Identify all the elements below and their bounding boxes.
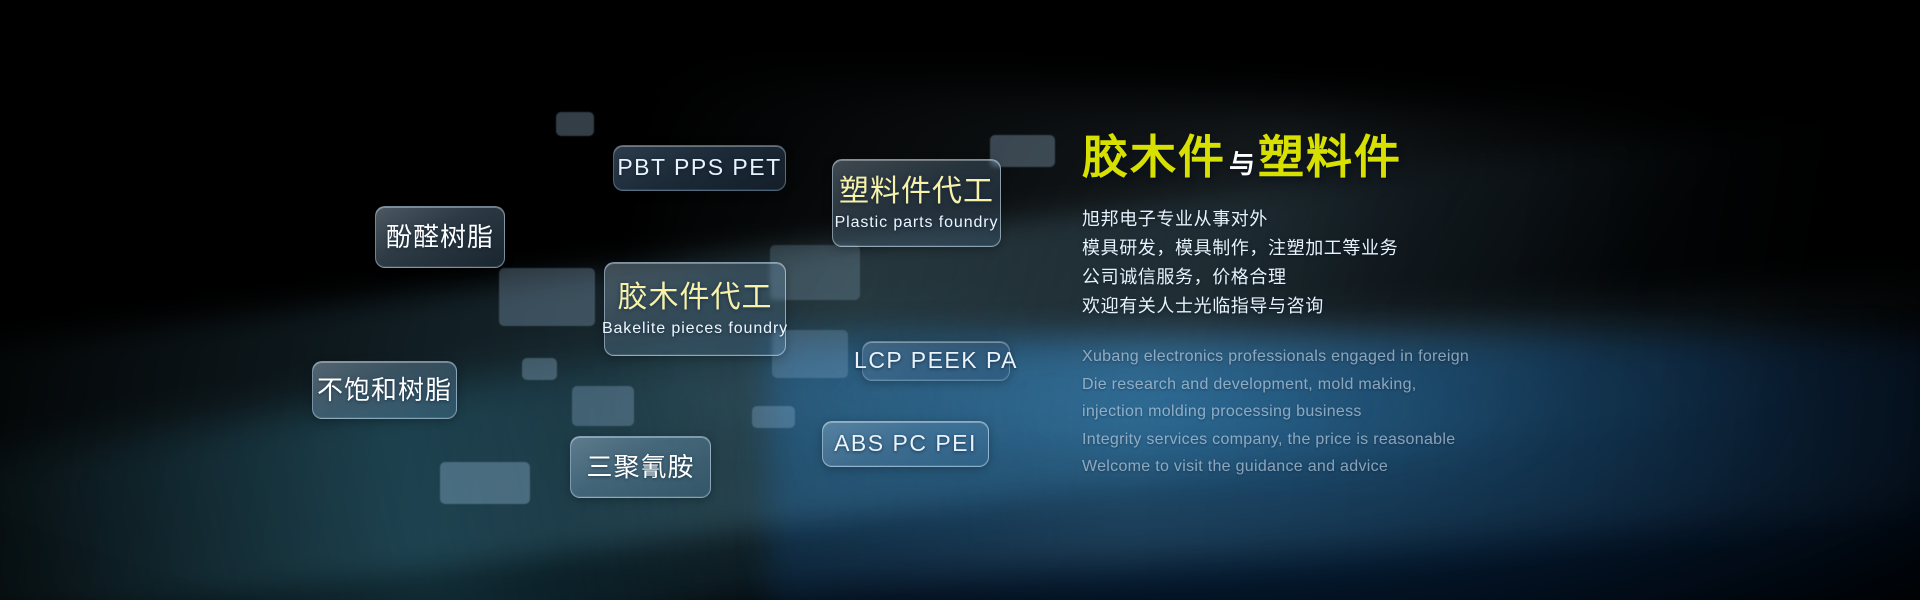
- decorative-square: [522, 358, 557, 380]
- chip-label: 不饱和树脂: [317, 376, 452, 405]
- chip-label: PBT PPS PET: [617, 155, 781, 180]
- decorative-square: [440, 462, 530, 504]
- chip-lcp-peek-pa[interactable]: LCP PEEK PA: [862, 341, 1010, 381]
- chinese-description-line: 公司诚信服务，价格合理: [1082, 263, 1842, 292]
- chip-label: 塑料件代工: [839, 174, 994, 209]
- decorative-square: [556, 112, 594, 136]
- chinese-description-line: 旭邦电子专业从事对外: [1082, 205, 1842, 234]
- english-description-line: Welcome to visit the guidance and advice: [1082, 453, 1842, 481]
- headline-conjunction: 与: [1229, 149, 1255, 179]
- chip-label: 三聚氰胺: [586, 453, 694, 482]
- chip-label: LCP PEEK PA: [854, 348, 1018, 373]
- promo-banner: PBT PPS PET酚醛树脂塑料件代工Plastic parts foundr…: [0, 0, 1920, 600]
- chip-plastic-parts-foundry[interactable]: 塑料件代工Plastic parts foundry: [832, 159, 1001, 247]
- chip-sublabel: Plastic parts foundry: [835, 213, 999, 232]
- chip-label: 胶木件代工: [618, 280, 773, 315]
- chip-bakelite-pieces-foundry[interactable]: 胶木件代工Bakelite pieces foundry: [604, 262, 786, 356]
- english-description-line: Die research and development, mold makin…: [1082, 371, 1842, 399]
- chip-unsaturated-resin[interactable]: 不饱和树脂: [312, 361, 457, 419]
- chip-label: 酚醛树脂: [386, 223, 494, 252]
- chip-label: ABS PC PEI: [834, 431, 977, 456]
- english-description-line: injection molding processing business: [1082, 398, 1842, 426]
- chip-pbt-pps-pet[interactable]: PBT PPS PET: [613, 145, 786, 191]
- english-description: Xubang electronics professionals engaged…: [1082, 343, 1842, 481]
- chip-melamine[interactable]: 三聚氰胺: [570, 436, 711, 498]
- chinese-description: 旭邦电子专业从事对外模具研发，模具制作，注塑加工等业务公司诚信服务，价格合理欢迎…: [1082, 205, 1842, 322]
- chip-abs-pc-pei[interactable]: ABS PC PEI: [822, 421, 989, 467]
- decorative-square: [752, 406, 795, 428]
- decorative-square: [572, 386, 634, 426]
- chinese-description-line: 模具研发，模具制作，注塑加工等业务: [1082, 234, 1842, 263]
- headline-part1: 胶木件: [1082, 131, 1226, 183]
- chip-sublabel: Bakelite pieces foundry: [602, 319, 788, 338]
- decorative-square: [990, 135, 1055, 167]
- copy-block: 胶木件与塑料件 旭邦电子专业从事对外模具研发，模具制作，注塑加工等业务公司诚信服…: [1082, 132, 1842, 481]
- english-description-line: Xubang electronics professionals engaged…: [1082, 343, 1842, 371]
- chip-phenolic-resin[interactable]: 酚醛树脂: [375, 206, 505, 268]
- decorative-square: [499, 268, 595, 326]
- chinese-description-line: 欢迎有关人士光临指导与咨询: [1082, 292, 1842, 321]
- page-title: 胶木件与塑料件: [1082, 132, 1842, 183]
- english-description-line: Integrity services company, the price is…: [1082, 426, 1842, 454]
- headline-part2: 塑料件: [1258, 131, 1402, 183]
